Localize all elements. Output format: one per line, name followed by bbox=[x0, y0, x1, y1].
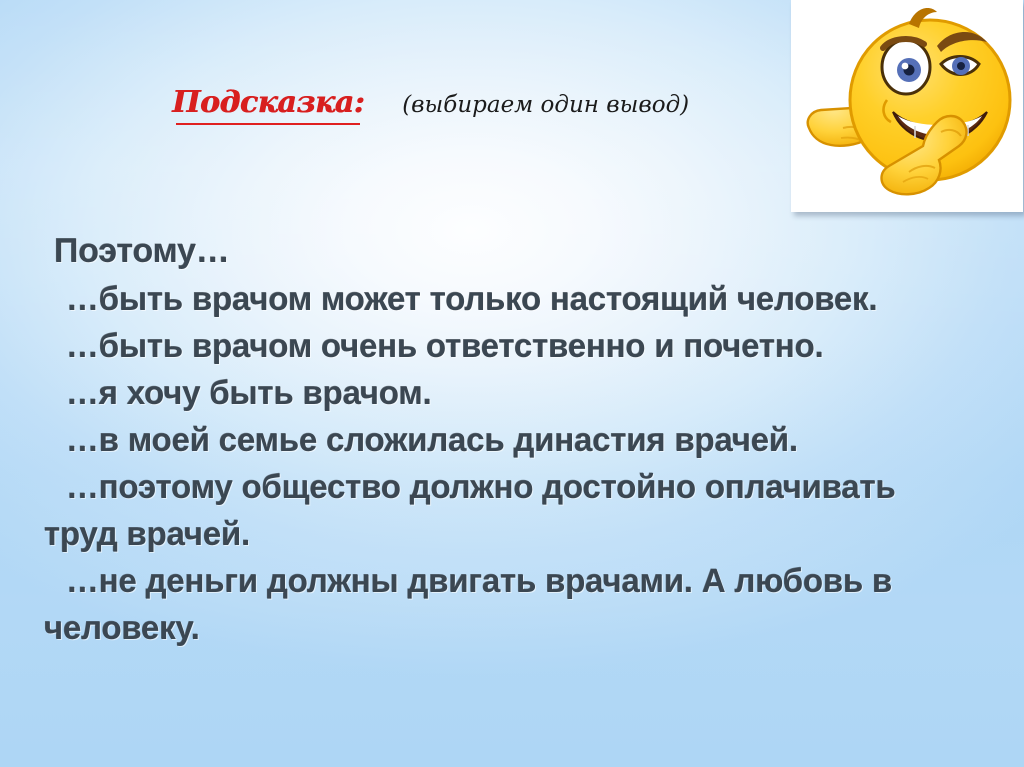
hint-note: (выбираем один вывод) bbox=[402, 94, 689, 117]
list-item: …поэтому общество должно достойно оплачи… bbox=[44, 463, 949, 557]
hint-label: Подсказка: bbox=[172, 88, 364, 118]
smiley-image-frame bbox=[791, 0, 1023, 212]
list-item: Поэтому… bbox=[44, 228, 949, 275]
winking-smiley-pointing-icon bbox=[791, 0, 1023, 212]
list-item: …не деньги должны двигать врачами. А люб… bbox=[44, 557, 949, 651]
slide-canvas: Подсказка: (выбираем один вывод) bbox=[0, 0, 1024, 767]
list-item: …быть врачом очень ответственно и почетн… bbox=[44, 322, 949, 369]
hint-underline bbox=[176, 123, 360, 125]
hint-header: Подсказка: (выбираем один вывод) bbox=[172, 88, 689, 118]
conclusion-list: Поэтому… …быть врачом может только насто… bbox=[44, 228, 949, 651]
list-item: …в моей семье сложилась династия врачей. bbox=[44, 416, 949, 463]
list-item: …быть врачом может только настоящий чело… bbox=[44, 275, 949, 322]
list-item: …я хочу быть врачом. bbox=[44, 369, 949, 416]
